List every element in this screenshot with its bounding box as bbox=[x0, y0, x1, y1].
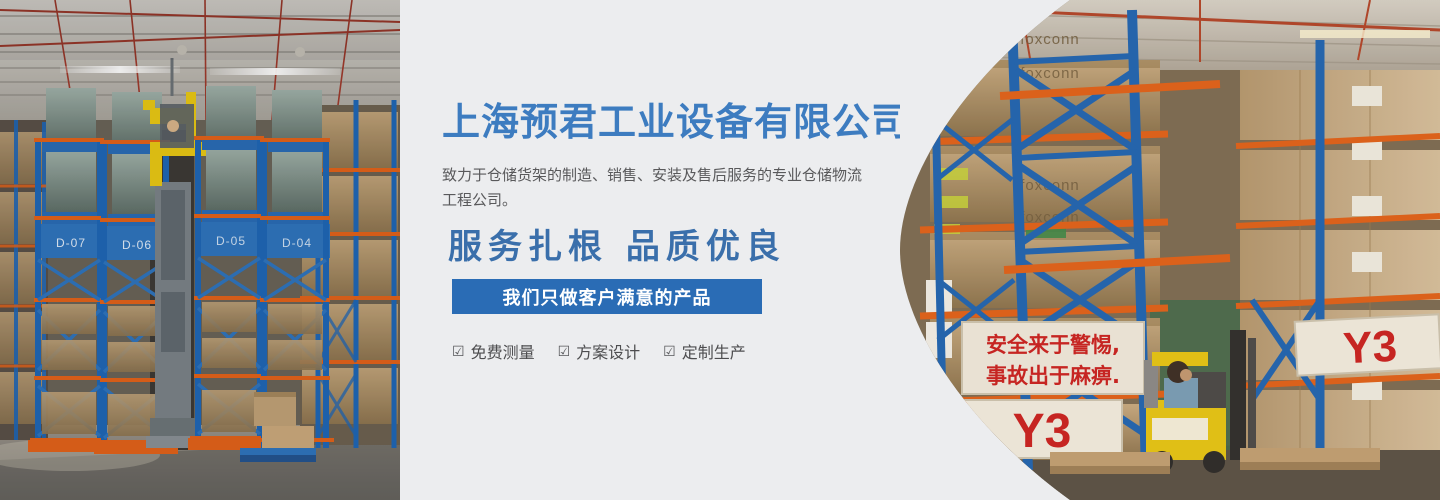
svg-text:Y3: Y3 bbox=[1013, 405, 1072, 458]
hero-banner: D-07 D-06 bbox=[0, 0, 1440, 500]
svg-text:D-07: D-07 bbox=[56, 236, 86, 250]
check-icon: ☑ bbox=[452, 344, 465, 358]
svg-text:foxconn: foxconn bbox=[1020, 177, 1080, 194]
feature-label: 方案设计 bbox=[576, 339, 640, 363]
left-photo-graphic: D-07 D-06 bbox=[0, 0, 400, 500]
right-photo-graphic: foxconn foxconn foxconn foxconn bbox=[900, 0, 1440, 500]
check-icon: ☑ bbox=[558, 344, 571, 358]
company-title: 上海预君工业设备有限公司 bbox=[442, 100, 910, 146]
feature-item: ☑ 定制生产 bbox=[663, 339, 746, 363]
svg-text:Y3: Y3 bbox=[1342, 322, 1398, 374]
hero-text-block: 上海预君工业设备有限公司 致力于仓储货架的制造、销售、安装及售后服务的专业仓储物… bbox=[400, 0, 960, 500]
svg-text:D-06: D-06 bbox=[122, 238, 152, 252]
feature-item: ☑ 免费测量 bbox=[452, 339, 535, 363]
svg-text:事故出于麻痹.: 事故出于麻痹. bbox=[986, 364, 1120, 388]
cta-button[interactable]: 我们只做客户满意的产品 bbox=[452, 279, 762, 314]
left-warehouse-photo: D-07 D-06 bbox=[0, 0, 400, 500]
right-warehouse-photo: foxconn foxconn foxconn foxconn bbox=[900, 0, 1440, 500]
svg-text:foxconn: foxconn bbox=[1020, 209, 1080, 226]
feature-label: 定制生产 bbox=[682, 339, 746, 363]
svg-text:foxconn: foxconn bbox=[1020, 31, 1080, 48]
feature-item: ☑ 方案设计 bbox=[558, 339, 641, 363]
svg-text:D-05: D-05 bbox=[216, 234, 246, 248]
svg-text:D-04: D-04 bbox=[282, 236, 312, 250]
hero-slogan: 服务扎根 品质优良 bbox=[448, 224, 786, 270]
check-icon: ☑ bbox=[663, 344, 676, 358]
svg-text:安全来于警惕,: 安全来于警惕, bbox=[986, 333, 1120, 357]
company-subtitle: 致力于仓储货架的制造、销售、安装及售后服务的专业仓储物流工程公司。 bbox=[442, 163, 862, 213]
feature-list: ☑ 免费测量 ☑ 方案设计 ☑ 定制生产 bbox=[452, 339, 746, 363]
svg-text:foxconn: foxconn bbox=[1020, 65, 1080, 82]
feature-label: 免费测量 bbox=[471, 339, 535, 363]
